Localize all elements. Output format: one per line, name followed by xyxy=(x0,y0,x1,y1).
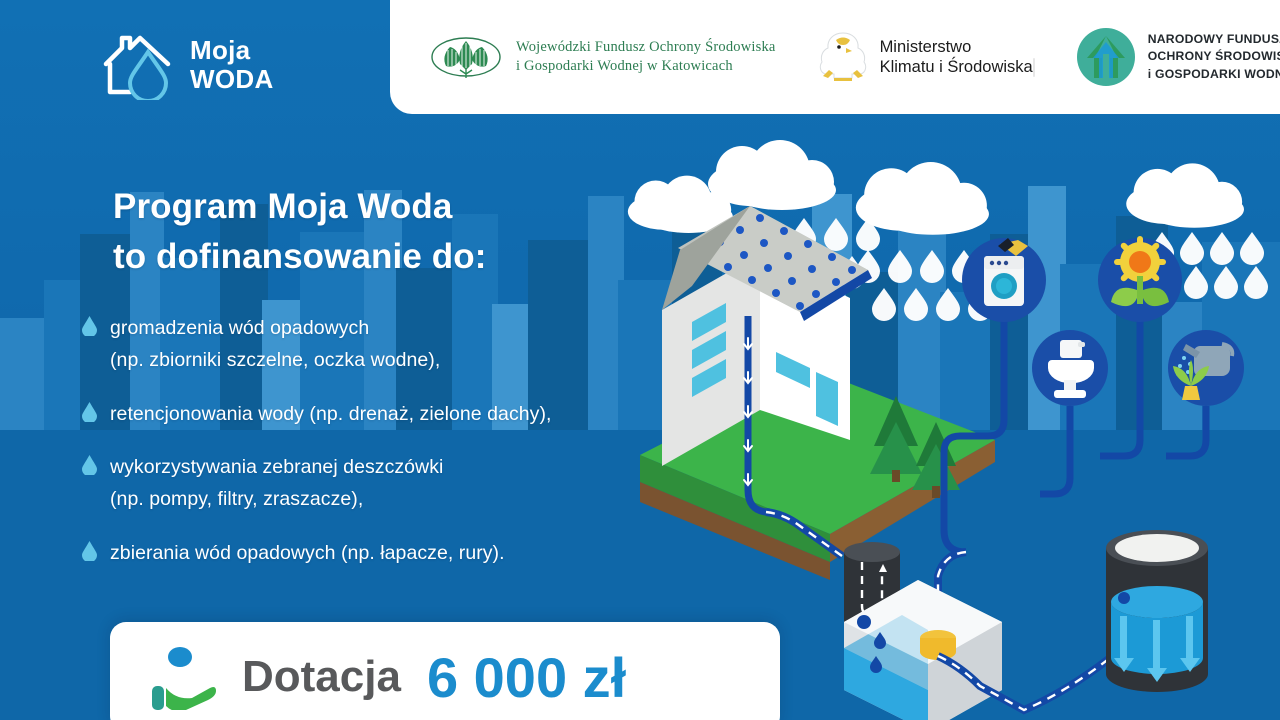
nfosigw-line2: OCHRONY ŚRODOWISKA xyxy=(1148,49,1280,63)
list-item: zbierania wód opadowych (np. łapacze, ru… xyxy=(82,537,722,569)
headline-line2: to dofinansowanie do: xyxy=(113,232,486,282)
cloud-group xyxy=(628,140,1244,235)
polish-eagle-emblem-icon xyxy=(816,26,870,88)
wfosigw-line2: i Gospodarki Wodnej w Katowicach xyxy=(516,58,733,74)
hand-with-coins-icon xyxy=(144,644,216,710)
benefit-list: gromadzenia wód opadowych (np. zbiorniki… xyxy=(82,312,722,590)
partner-logo-bar: Wojewódzki Fundusz Ochrony Środowiska i … xyxy=(390,0,1280,114)
brand-text: Moja WODA xyxy=(190,36,274,94)
ministry-logo: Ministerstwo Klimatu i Środowiska xyxy=(816,26,1035,88)
grant-amount: 6 000 zł xyxy=(427,645,626,710)
list-item-line1: retencjonowania wody (np. drenaż, zielon… xyxy=(110,403,551,425)
ministry-line1: Ministerstwo xyxy=(880,38,972,56)
nfosigw-line3: i GOSPODARKI WODNEJ xyxy=(1148,67,1280,81)
ministry-line2: Klimatu i Środowiska xyxy=(880,58,1033,76)
badge-toilet xyxy=(1032,330,1108,406)
grant-label: Dotacja xyxy=(242,652,401,702)
ministry-text: Ministerstwo Klimatu i Środowiska xyxy=(880,38,1033,76)
list-item: retencjonowania wody (np. drenaż, zielon… xyxy=(82,398,722,430)
nfosigw-text: NARODOWY FUNDUSZ OCHRONY ŚRODOWISKA i GO… xyxy=(1148,31,1280,83)
list-item-line2: (np. zbiorniki szczelne, oczka wodne), xyxy=(110,349,440,371)
water-drop-bullet-icon xyxy=(82,316,97,336)
page-title: Program Moja Woda to dofinansowanie do: xyxy=(113,182,486,281)
badge-watering-can xyxy=(1168,330,1244,406)
nfosigw-trees-emblem-icon xyxy=(1077,28,1135,86)
infographic-poster: Moja WODA xyxy=(0,0,1280,720)
badge-washing-machine xyxy=(962,238,1046,322)
brand-line1: Moja xyxy=(190,35,250,65)
list-item-text: gromadzenia wód opadowych (np. zbiorniki… xyxy=(110,312,440,377)
wfosigw-logo: Wojewódzki Fundusz Ochrony Środowiska i … xyxy=(430,32,776,82)
nfosigw-line1: NARODOWY FUNDUSZ xyxy=(1148,32,1280,46)
wfosigw-line1: Wojewódzki Fundusz Ochrony Środowiska xyxy=(516,39,776,55)
wfosigw-text: Wojewódzki Fundusz Ochrony Środowiska i … xyxy=(516,38,776,76)
list-item-line2: (np. pompy, filtry, zraszacze), xyxy=(110,488,363,510)
list-item: wykorzystywania zebranej deszczówki (np.… xyxy=(82,451,722,516)
ministry-text-block: Ministerstwo Klimatu i Środowiska xyxy=(880,37,1035,77)
list-item: gromadzenia wód opadowych (np. zbiorniki… xyxy=(82,312,722,377)
list-item-text: wykorzystywania zebranej deszczówki (np.… xyxy=(110,451,443,516)
list-item-line1: gromadzenia wód opadowych xyxy=(110,317,369,339)
grant-amount-card: Dotacja 6 000 zł xyxy=(110,622,780,720)
oval-leaves-emblem-icon xyxy=(430,32,502,82)
infiltration-tank xyxy=(1106,530,1208,692)
brand-line2: WODA xyxy=(190,64,274,94)
list-item-line1: wykorzystywania zebranej deszczówki xyxy=(110,456,443,478)
house-with-waterdrop-logo-icon xyxy=(100,30,176,100)
brand-logo: Moja WODA xyxy=(100,30,274,100)
nfosigw-logo: NARODOWY FUNDUSZ OCHRONY ŚRODOWISKA i GO… xyxy=(1077,28,1280,86)
water-drop-bullet-icon xyxy=(82,455,97,475)
headline-line1: Program Moja Woda xyxy=(113,182,486,232)
polish-flag-bar xyxy=(1033,58,1035,77)
water-drop-bullet-icon xyxy=(82,402,97,422)
water-drop-bullet-icon xyxy=(82,541,97,561)
list-item-line1: zbierania wód opadowych (np. łapacze, ru… xyxy=(110,542,505,564)
list-item-text: zbierania wód opadowych (np. łapacze, ru… xyxy=(110,537,505,569)
list-item-text: retencjonowania wody (np. drenaż, zielon… xyxy=(110,398,551,430)
